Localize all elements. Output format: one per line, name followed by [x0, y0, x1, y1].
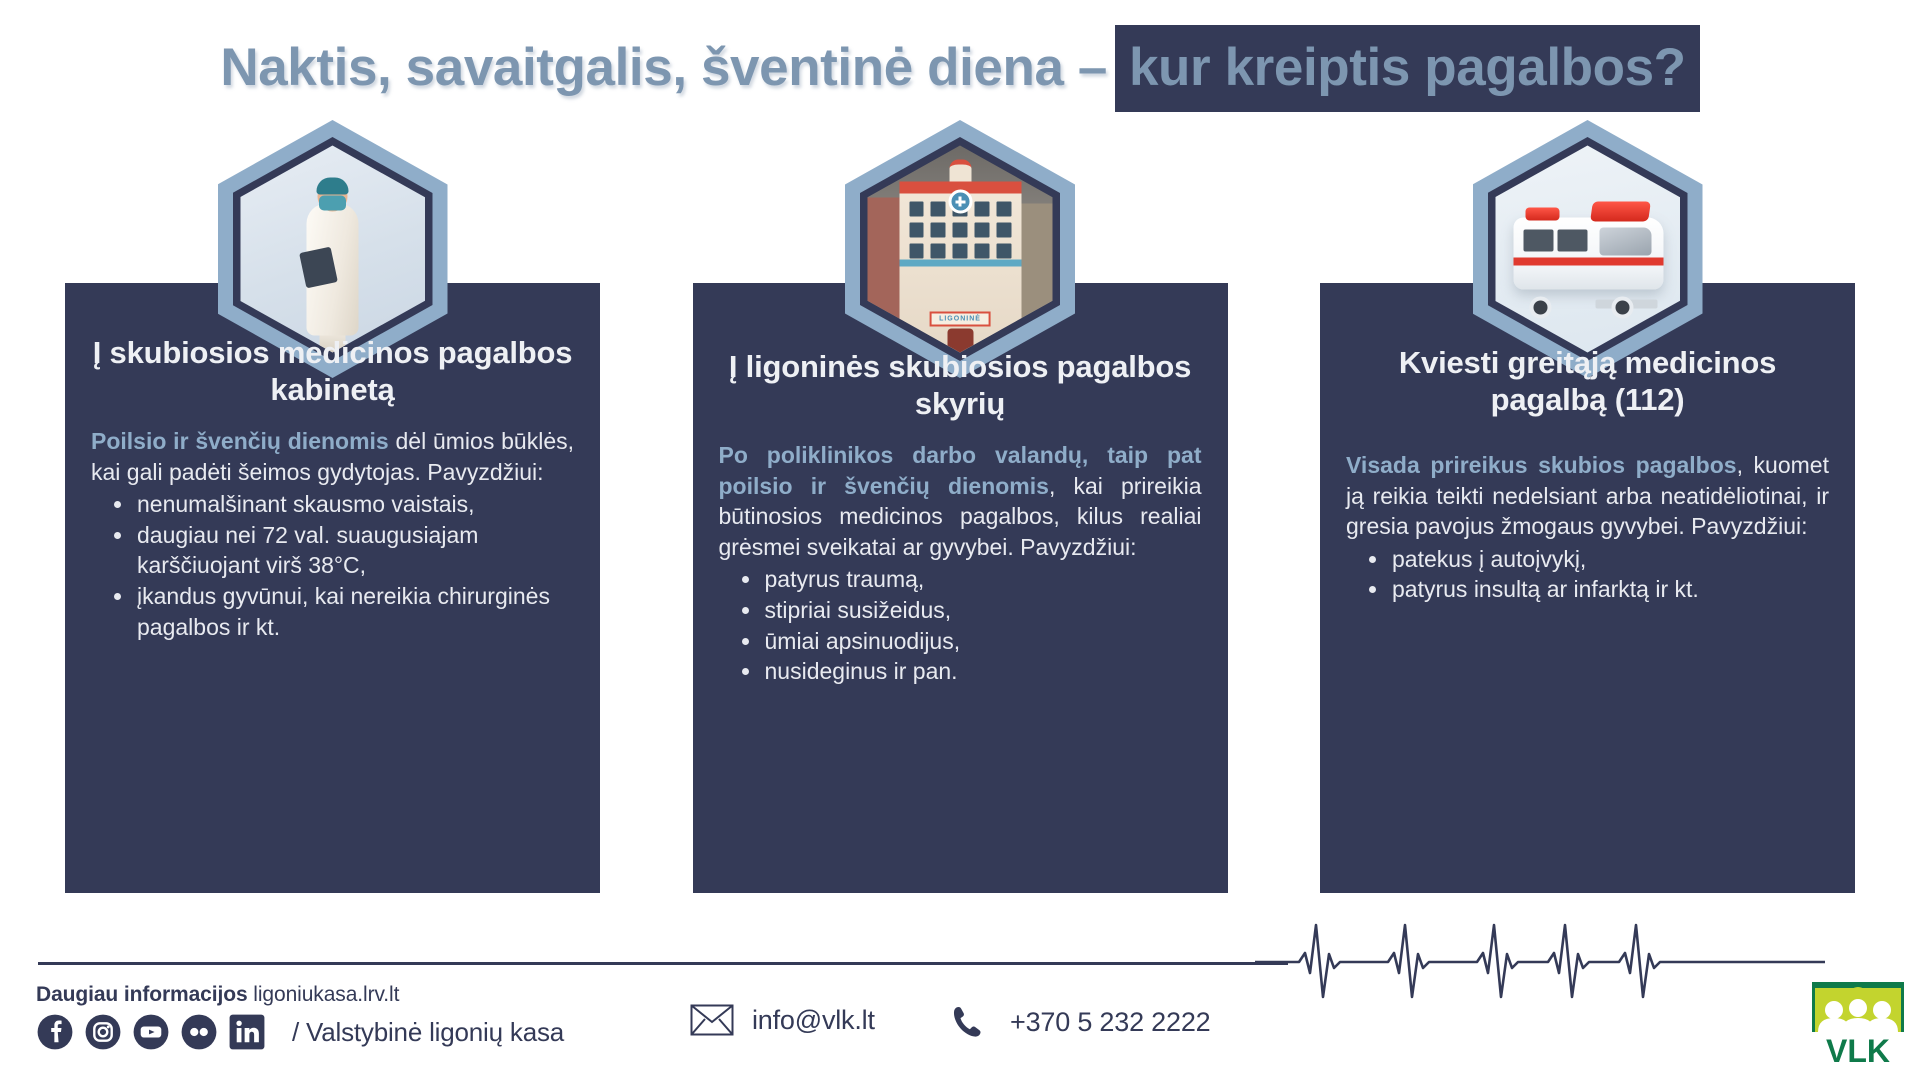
hexagon-badge-hospital: LIGONINĖ: [845, 120, 1075, 378]
ambulance-rear-light: [1525, 208, 1559, 221]
youtube-icon[interactable]: [132, 1013, 170, 1051]
card-lead-text: Visada prireikus skubios pagalbos: [1346, 452, 1737, 478]
list-item: daugiau nei 72 val. suaugusiajam karščiu…: [135, 520, 574, 581]
cards-container: Į skubiosios medicinos pagalbos kabinetą…: [65, 283, 1855, 893]
hexagon-badge-ambulance: [1473, 120, 1703, 378]
list-item: patyrus insultą ar infarktą ir kt.: [1390, 574, 1829, 605]
medical-cross-icon: [948, 190, 972, 214]
social-caption: / Valstybinė ligonių kasa: [292, 1017, 564, 1048]
list-item: stipriai susižeidus,: [763, 595, 1202, 626]
list-item: nusideginus ir pan.: [763, 656, 1202, 687]
page-title-plain: Naktis, savaitgalis, šventinė diena –: [220, 41, 1115, 94]
card-body: Poilsio ir švenčių dienomis dėl ūmios bū…: [91, 426, 574, 487]
ambulance-side-window: [1557, 230, 1587, 252]
footer-divider: [38, 962, 1288, 965]
ambulance-side-window: [1523, 230, 1553, 252]
doctor-surgical-cap: [317, 178, 349, 195]
page-title: Naktis, savaitgalis, šventinė diena – ku…: [0, 26, 1920, 108]
phone-icon: [950, 1004, 986, 1040]
card-bullet-list: nenumalšinant skausmo vaistais, daugiau …: [91, 489, 574, 642]
card-emergency-office[interactable]: Į skubiosios medicinos pagalbos kabinetą…: [65, 283, 600, 893]
facebook-icon[interactable]: [36, 1013, 74, 1051]
list-item: ūmiai apsinuodijus,: [763, 626, 1202, 657]
contact-email[interactable]: info@vlk.lt: [690, 1004, 875, 1036]
footer-more-info: Daugiau informacijos ligoniukasa.lrv.lt: [36, 983, 399, 1007]
hospital-facade: LIGONINĖ: [899, 182, 1021, 353]
ambulance-red-stripe: [1513, 258, 1663, 266]
card-body: Po poliklinikos darbo valandų, taip pat …: [719, 440, 1202, 562]
card-title: Kviesti greitąją medicinos pagalbą (112): [1346, 345, 1829, 418]
list-item: patyrus traumą,: [763, 564, 1202, 595]
card-lead-text: Poilsio ir švenčių dienomis: [91, 428, 389, 454]
ambulance-windshield: [1599, 228, 1651, 256]
doctor-face-mask: [319, 196, 346, 211]
ambulance-wheel: [1529, 297, 1551, 319]
ambulance-wheel: [1611, 297, 1633, 319]
page-title-highlighted: kur kreiptis pagalbos?: [1115, 25, 1700, 112]
ambulance-light-bar: [1590, 202, 1651, 222]
card-call-ambulance[interactable]: Kviesti greitąją medicinos pagalbą (112)…: [1320, 283, 1855, 893]
linkedin-icon[interactable]: [228, 1013, 266, 1051]
card-bullet-list: patekus į autoįvykį, patyrus insultą ar …: [1346, 544, 1829, 605]
more-info-label: Daugiau informacijos: [36, 983, 248, 1006]
hospital-blue-band: [899, 260, 1021, 267]
card-hospital-emergency-department[interactable]: LIGONINĖ Į ligoninės skubiosios pagalbos…: [693, 283, 1228, 893]
instagram-icon[interactable]: [84, 1013, 122, 1051]
flickr-icon[interactable]: [180, 1013, 218, 1051]
card-title: Į skubiosios medicinos pagalbos kabinetą: [91, 335, 574, 408]
hospital-sign: LIGONINĖ: [929, 312, 991, 327]
vlk-logo-text: VLK: [1826, 1033, 1890, 1066]
card-bullet-list: patyrus traumą, stipriai susižeidus, ūmi…: [719, 564, 1202, 686]
list-item: įkandus gyvūnui, kai nereikia chirurginė…: [135, 581, 574, 642]
ecg-heartbeat-line: [1255, 905, 1825, 1015]
vlk-logo: VLK: [1810, 980, 1906, 1066]
infographic-page: Naktis, savaitgalis, šventinė diena – ku…: [0, 0, 1920, 1080]
phone-text: +370 5 232 2222: [1010, 1007, 1210, 1038]
email-text: info@vlk.lt: [752, 1005, 875, 1036]
list-item: nenumalšinant skausmo vaistais,: [135, 489, 574, 520]
card-title: Į ligoninės skubiosios pagalbos skyrių: [719, 349, 1202, 422]
list-item: patekus į autoįvykį,: [1390, 544, 1829, 575]
website-link[interactable]: ligoniukasa.lrv.lt: [253, 983, 399, 1006]
contact-phone[interactable]: +370 5 232 2222: [950, 1004, 1210, 1040]
social-links: / Valstybinė ligonių kasa: [36, 1013, 564, 1051]
envelope-icon: [690, 1004, 734, 1036]
card-body: Visada prireikus skubios pagalbos, kuome…: [1346, 450, 1829, 542]
